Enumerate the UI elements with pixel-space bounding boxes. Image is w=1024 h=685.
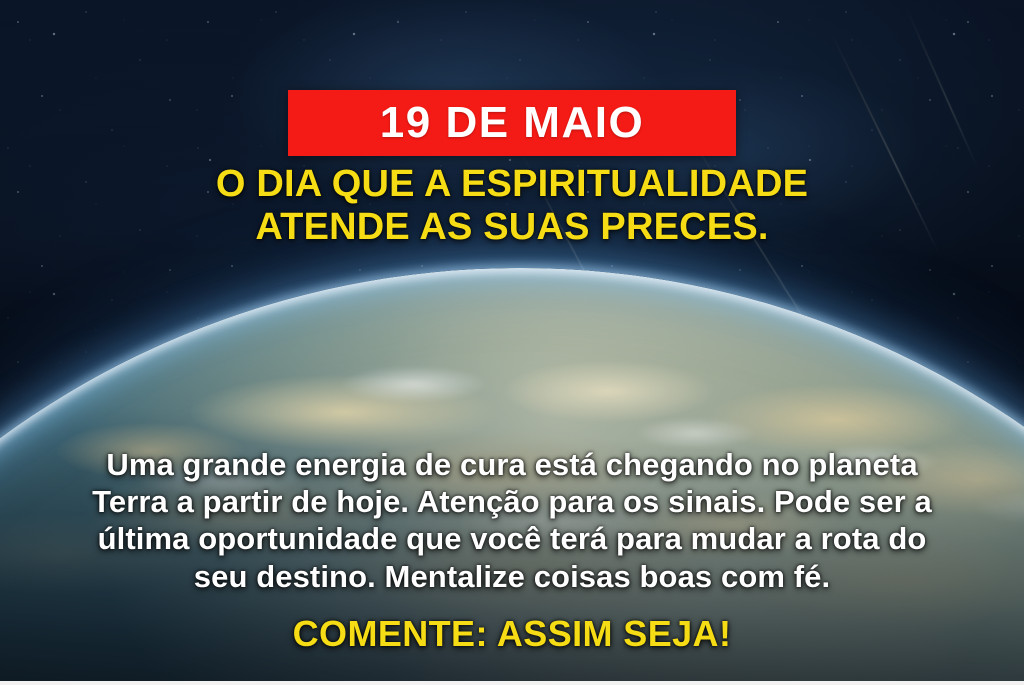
call-to-action-text: COMENTE: ASSIM SEJA! (0, 613, 1024, 655)
body-paragraph: Uma grande energia de cura está chegando… (81, 446, 943, 595)
poster-canvas: 19 DE MAIO O DIA QUE A ESPIRITUALIDADE A… (0, 0, 1024, 685)
date-banner-label: 19 DE MAIO (380, 101, 644, 145)
headline-line-1: O DIA QUE A ESPIRITUALIDADE (0, 163, 1024, 206)
headline-line-2: ATENDE AS SUAS PRECES. (0, 206, 1024, 249)
headline: O DIA QUE A ESPIRITUALIDADE ATENDE AS SU… (0, 163, 1024, 248)
poster-content: 19 DE MAIO O DIA QUE A ESPIRITUALIDADE A… (0, 0, 1024, 685)
bottom-edge-strip (0, 681, 1024, 685)
date-banner: 19 DE MAIO (288, 90, 736, 156)
